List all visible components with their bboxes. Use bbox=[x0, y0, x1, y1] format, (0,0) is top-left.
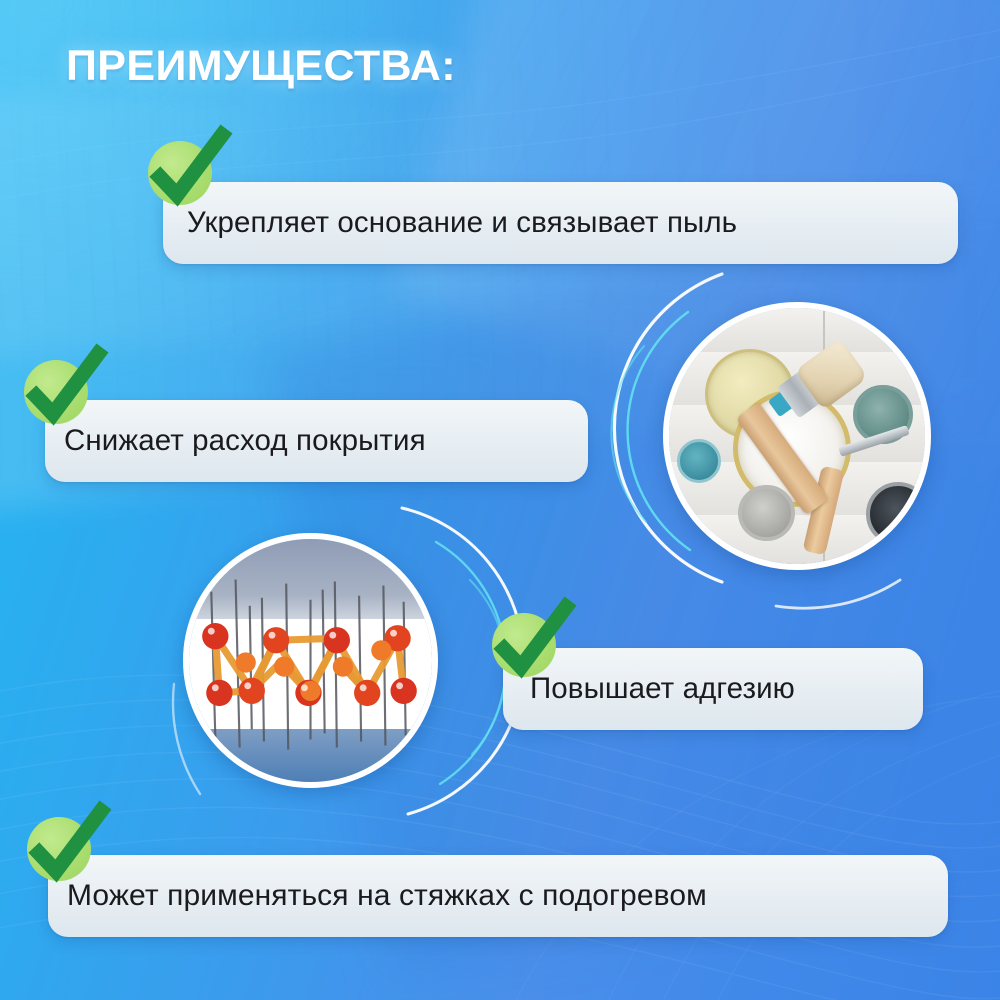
benefit-card-2: Снижает расход покрытия bbox=[45, 400, 588, 482]
benefit-label-2: Снижает расход покрытия bbox=[64, 424, 426, 458]
infographic-canvas: ПРЕИМУЩЕСТВА: bbox=[0, 0, 1000, 1000]
page-title: ПРЕИМУЩЕСТВА: bbox=[66, 42, 456, 91]
photo-paint-tools: Круглая кисть, открытые банки с краской … bbox=[663, 302, 931, 570]
benefit-label-1: Укрепляет основание и связывает пыль bbox=[187, 206, 737, 240]
paint-can-teal-left bbox=[677, 439, 721, 483]
benefit-card-1: Укрепляет основание и связывает пыль bbox=[163, 182, 958, 264]
benefit-label-3: Повышает адгезию bbox=[530, 672, 795, 706]
benefit-card-4: Может применяться на стяжках с подогрево… bbox=[48, 855, 948, 937]
paint-can-gray bbox=[738, 485, 795, 542]
benefit-card-3: Повышает адгезию bbox=[503, 648, 923, 730]
benefit-label-4: Может применяться на стяжках с подогрево… bbox=[67, 879, 707, 913]
photo-polymer-structure: Модель полимерной структуры: красно-оран… bbox=[183, 533, 438, 788]
